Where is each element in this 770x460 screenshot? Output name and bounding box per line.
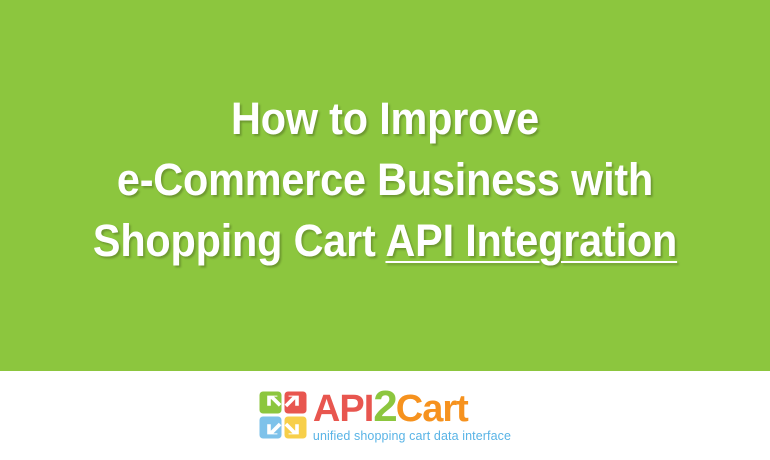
page-title: How to Improve e-Commerce Business with … bbox=[0, 0, 770, 271]
logo-segment-cart: Cart bbox=[396, 388, 468, 430]
api2cart-wordmark: API2Cart unified shopping cart data inte… bbox=[313, 389, 511, 443]
api2cart-four-squares-icon bbox=[259, 391, 307, 439]
headline-line-1: How to Improve bbox=[31, 88, 739, 149]
headline-line-3: Shopping Cart API Integration bbox=[31, 210, 739, 271]
four-squares-svg bbox=[259, 391, 307, 439]
logo-segment-two: 2 bbox=[373, 382, 395, 431]
footer-band: API2Cart unified shopping cart data inte… bbox=[0, 371, 770, 460]
logo-title: API2Cart bbox=[313, 389, 511, 427]
headline-line-3-plain: Shopping Cart bbox=[93, 215, 386, 266]
headline-line-2: e-Commerce Business with bbox=[31, 149, 739, 210]
api2cart-logo[interactable]: API2Cart unified shopping cart data inte… bbox=[259, 390, 511, 442]
hero-band: How to Improve e-Commerce Business with … bbox=[0, 0, 770, 371]
headline-line-3-underlined: API Integration bbox=[385, 215, 677, 266]
logo-tagline: unified shopping cart data interface bbox=[313, 429, 511, 443]
logo-segment-api: API bbox=[313, 388, 373, 430]
promo-banner: How to Improve e-Commerce Business with … bbox=[0, 0, 770, 460]
